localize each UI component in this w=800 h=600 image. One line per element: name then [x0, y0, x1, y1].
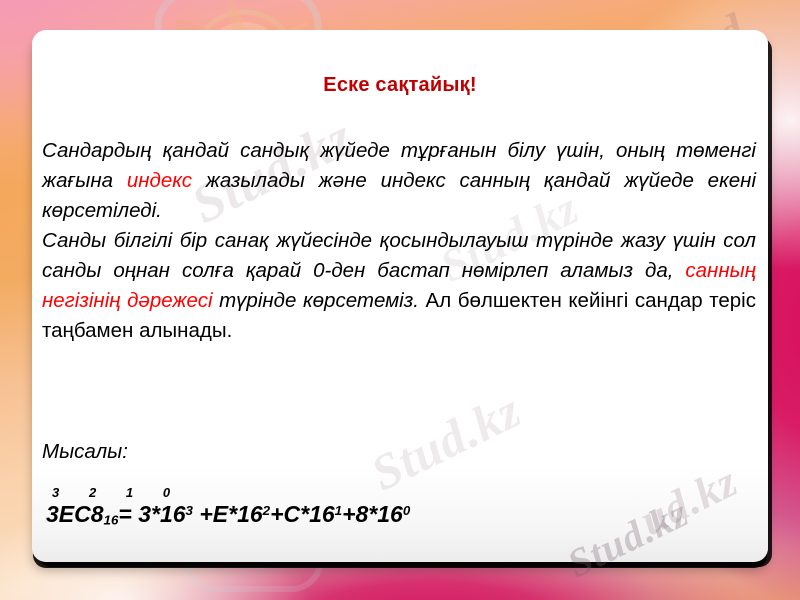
formula-term-3-coefficient: +C*16: [270, 501, 335, 527]
paragraph-two-segment-3: түрінде көрсетеміз.: [213, 289, 426, 312]
watermark-text: ud.kz: [632, 455, 746, 545]
formula-equals: =: [118, 501, 138, 527]
formula-term-4-exponent: 0: [403, 503, 410, 518]
watermark-text: Stud.kz: [362, 381, 530, 503]
paragraph-two-segment-1: Санды білгілі бір санақ жүйесінде қосынд…: [42, 229, 756, 282]
formula-term-1-exponent: 3: [186, 503, 193, 518]
formula-term-4-coefficient: +8*16: [342, 501, 403, 527]
formula-base-subscript: 16: [104, 512, 119, 527]
paragraph-one-highlight-indeks: индекс: [127, 169, 192, 192]
formula-term-1-coefficient: 3*16: [138, 501, 185, 527]
slide-canvas: d.kz - Stud Stud.kz Stud.kz Stud.kz ud.k…: [0, 0, 800, 600]
hex-expansion-formula: 3EC816= 3*163 +E*162+C*161+8*160: [46, 501, 410, 528]
positional-index-markers: 3 2 1 0: [46, 485, 410, 500]
paragraph-one: Сандардың қандай сандық жүйеде тұрғанын …: [42, 136, 756, 226]
example-formula-block: 3 2 1 0 3EC816= 3*163 +E*162+C*161+8*160: [46, 485, 410, 528]
paragraph-two: Санды білгілі бір санақ жүйесінде қосынд…: [42, 226, 756, 346]
content-card: Stud.kz Stud.kz Stud.kz ud.kz Еске сақта…: [32, 30, 768, 562]
example-label: Мысалы:: [42, 440, 128, 464]
formula-term-3-exponent: 1: [335, 503, 342, 518]
formula-base-number: 3EC8: [46, 501, 104, 527]
slide-title: Еске сақтайық!: [32, 74, 768, 97]
slide-body-text: Сандардың қандай сандық жүйеде тұрғанын …: [42, 136, 756, 346]
formula-term-2-coefficient: +E*16: [199, 501, 262, 527]
formula-term-2-exponent: 2: [263, 503, 270, 518]
